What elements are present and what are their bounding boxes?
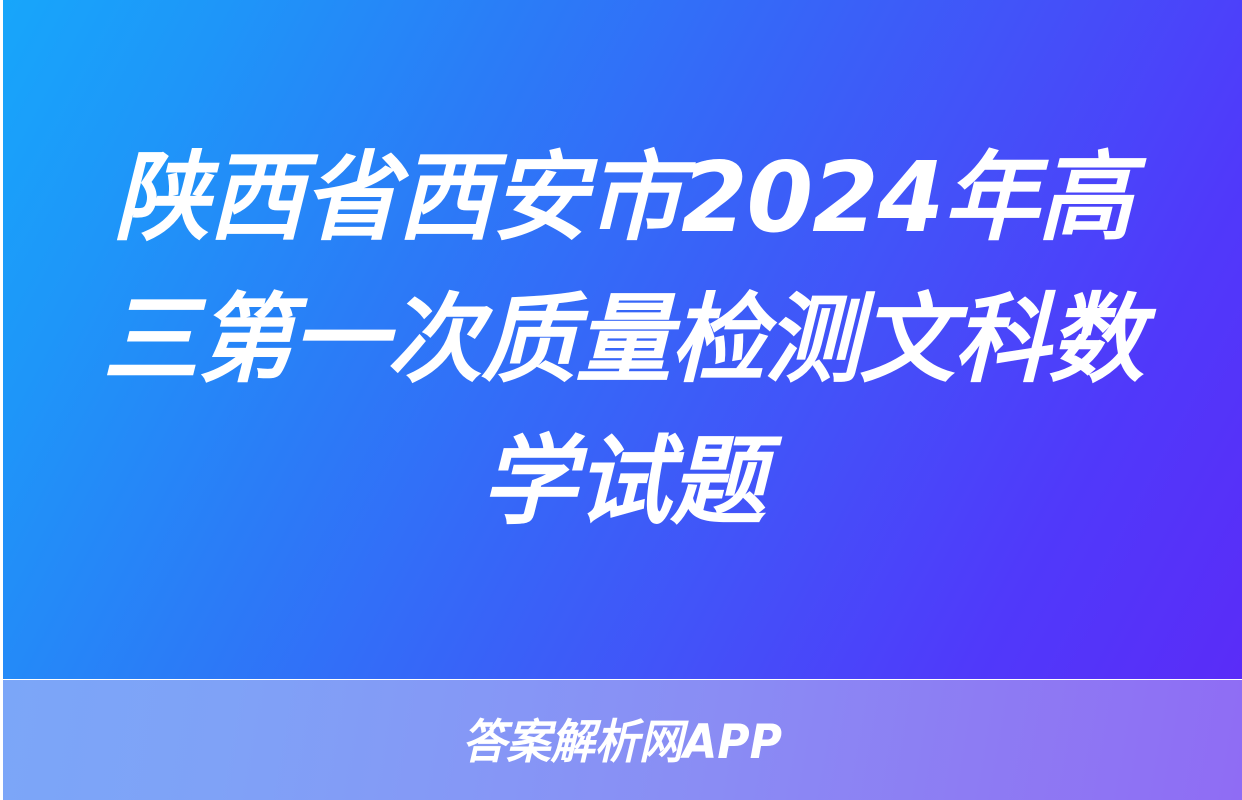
footer-watermark-band: 答案解析网APP — [3, 680, 1242, 800]
title-line-3: 学试题 — [481, 411, 765, 553]
page-title: 陕西省西安市2024年高 三第一次质量检测文科数 学试题 — [3, 0, 1242, 679]
poster-card: 陕西省西安市2024年高 三第一次质量检测文科数 学试题 答案解析网APP — [0, 0, 1242, 800]
hero-gradient-banner: 陕西省西安市2024年高 三第一次质量检测文科数 学试题 — [3, 0, 1242, 679]
title-line-1: 陕西省西安市2024年高 — [113, 127, 1131, 269]
watermark-brand-text: 答案解析网APP — [463, 719, 783, 766]
title-line-2: 三第一次质量检测文科数 — [102, 269, 1142, 411]
